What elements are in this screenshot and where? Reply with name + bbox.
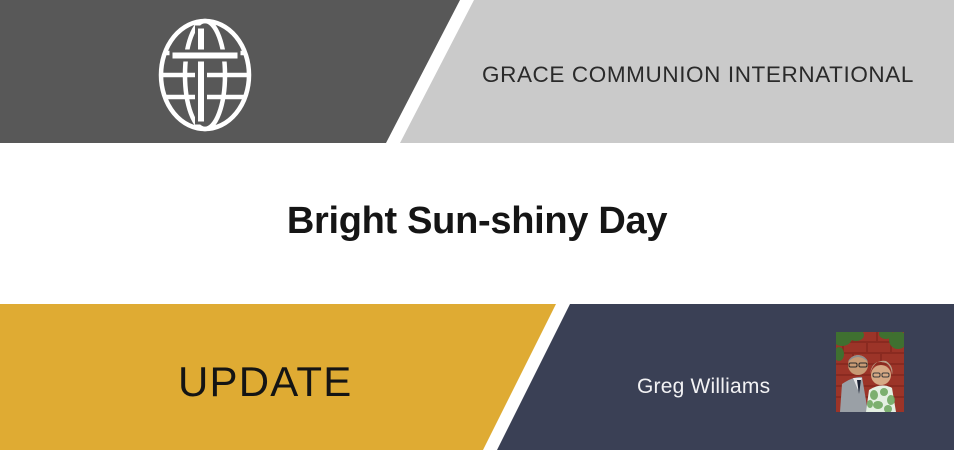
category-label: UPDATE (178, 361, 352, 403)
title-area: Bright Sun-shiny Day (0, 143, 954, 304)
organization-name: GRACE COMMUNION INTERNATIONAL (482, 60, 922, 90)
footer-band: UPDATE Greg Williams (0, 304, 954, 450)
header-band: GRACE COMMUNION INTERNATIONAL (0, 0, 954, 143)
author-name: Greg Williams (637, 376, 770, 397)
newsletter-banner: GRACE COMMUNION INTERNATIONAL Bright Sun… (0, 0, 954, 450)
globe-cross-logo-icon (143, 13, 267, 137)
author-photo (836, 332, 904, 412)
page-title: Bright Sun-shiny Day (0, 200, 954, 243)
